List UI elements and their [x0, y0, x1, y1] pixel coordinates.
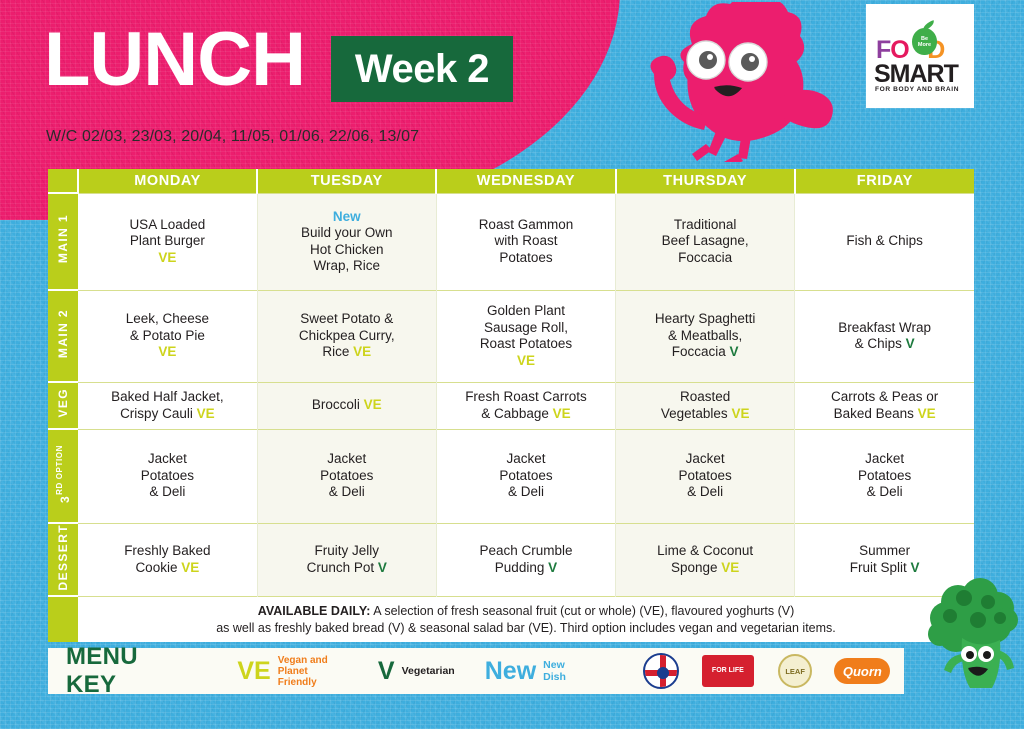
menu-item-line: & Meatballs, [620, 328, 790, 345]
menu-item-line: Crispy Cauli VE [82, 406, 253, 423]
table-row: MAIN 1USA LoadedPlant BurgerVENewBuild y… [48, 193, 974, 290]
menu-cell: Fruity JellyCrunch Pot V [257, 523, 436, 596]
day-header-thursday: THURSDAY [616, 169, 795, 193]
menu-item-line: & Deli [620, 484, 790, 501]
v-symbol: V [378, 657, 395, 686]
menu-item-line: & Cabbage VE [441, 406, 611, 423]
menu-cell: JacketPotatoes& Deli [795, 429, 974, 523]
table-row: MAIN 2Leek, Cheese& Potato PieVESweet Po… [48, 290, 974, 382]
apple-text-more: More [918, 42, 931, 48]
soil-badge-text: FOR LIFE [712, 667, 744, 675]
ve-desc-line1: Vegan and [278, 655, 348, 666]
menu-item-line: Foccacia [620, 250, 790, 267]
leaf-badge-text: LEAF [785, 667, 805, 676]
menu-item-line: Fruit Split V [799, 560, 970, 577]
menu-item-line: Fruity Jelly [262, 543, 432, 560]
diet-tag-v: V [906, 336, 915, 351]
menu-item-line: Plant Burger [82, 233, 253, 250]
ve-description: Vegan and Planet Friendly [278, 655, 348, 688]
menu-table-wrapper: MONDAY TUESDAY WEDNESDAY THURSDAY FRIDAY… [48, 169, 974, 642]
row-label-text: 3RD OPTION [55, 445, 72, 503]
menu-item-line: Baked Beans VE [799, 406, 970, 423]
menu-item-line: Potatoes [441, 250, 611, 267]
menu-item-line: Potatoes [262, 468, 432, 485]
broccoli-mascot-icon [928, 576, 1020, 701]
menu-item-line: & Chips V [799, 336, 970, 353]
menu-cell: JacketPotatoes& Deli [436, 429, 615, 523]
day-header-wednesday: WEDNESDAY [436, 169, 615, 193]
menu-item-line: Fish & Chips [799, 233, 970, 250]
row-label-text: MAIN 1 [56, 214, 70, 263]
page-title: LUNCH [44, 18, 305, 102]
menu-item-line: Foccacia V [620, 344, 790, 361]
menu-item-line: Chickpea Curry, [262, 328, 432, 345]
quorn-badge-text: Quorn [843, 664, 882, 679]
menu-cell: NewBuild your OwnHot ChickenWrap, Rice [257, 193, 436, 290]
row-label-3: 3RD OPTION [48, 429, 78, 523]
menu-item-line: Rice VE [262, 344, 432, 361]
menu-item-line: Hot Chicken [262, 242, 432, 259]
diet-tag-ve: VE [82, 250, 253, 267]
menu-item-line: Jacket [620, 451, 790, 468]
menu-item-line: Fresh Roast Carrots [441, 389, 611, 406]
diet-tag-ve: VE [731, 406, 749, 421]
menu-item-line: Jacket [82, 451, 253, 468]
menu-item-line: Broccoli VE [262, 397, 432, 414]
table-row: 3RD OPTIONJacketPotatoes& DeliJacketPota… [48, 429, 974, 523]
menu-item-line: Beef Lasagne, [620, 233, 790, 250]
row-label-text: DESSERT [56, 524, 70, 590]
menu-item-line: Sweet Potato & [262, 311, 432, 328]
menu-item-line: Jacket [441, 451, 611, 468]
menu-item-line: Potatoes [799, 468, 970, 485]
menu-cell: Fish & Chips [795, 193, 974, 290]
menu-item-line: USA Loaded [82, 217, 253, 234]
menu-cell: Peach CrumblePudding V [436, 523, 615, 596]
menu-key-item-ve: VE Vegan and Planet Friendly [237, 655, 348, 688]
diet-tag-v: V [378, 560, 387, 575]
available-daily-prefix: AVAILABLE DAILY: [258, 604, 371, 618]
week-commencing-dates: W/C 02/03, 23/03, 20/04, 11/05, 01/06, 2… [46, 128, 419, 146]
menu-item-line: Build your Own [262, 225, 432, 242]
day-header-friday: FRIDAY [795, 169, 974, 193]
menu-cell: Roast Gammonwith RoastPotatoes [436, 193, 615, 290]
diet-tag-ve: VE [197, 406, 215, 421]
menu-cell: Carrots & Peas orBaked Beans VE [795, 382, 974, 429]
menu-item-line: Golden Plant [441, 303, 611, 320]
menu-item-line: & Deli [82, 484, 253, 501]
menu-cell: Hearty Spaghetti& Meatballs,Foccacia V [616, 290, 795, 382]
available-daily-line1: AVAILABLE DAILY: A selection of fresh se… [88, 603, 964, 620]
diet-tag-ve: VE [441, 353, 611, 370]
ve-symbol: VE [237, 657, 270, 686]
food-smart-logo: FOOD Be More SMART FOR BODY AND BRAIN [866, 4, 974, 108]
menu-item-line: Vegetables VE [620, 406, 790, 423]
row-label-veg: VEG [48, 382, 78, 429]
accreditation-badges: FOR LIFE LEAF Quorn [619, 648, 904, 694]
menu-item-line: & Potato Pie [82, 328, 253, 345]
menu-cell: Fresh Roast Carrots& Cabbage VE [436, 382, 615, 429]
menu-cell: JacketPotatoes& Deli [616, 429, 795, 523]
diet-tag-ve: VE [721, 560, 739, 575]
diet-tag-ve: VE [181, 560, 199, 575]
menu-item-line: Sponge VE [620, 560, 790, 577]
new-description: New Dish [543, 659, 589, 683]
logo-tagline: FOR BODY AND BRAIN [875, 86, 959, 93]
row-label-main-1: MAIN 1 [48, 193, 78, 290]
menu-item-line: Breakfast Wrap [799, 320, 970, 337]
soil-association-badge-icon: FOR LIFE [700, 653, 756, 689]
quorn-badge-icon: Quorn [834, 653, 890, 689]
menu-cell: Broccoli VE [257, 382, 436, 429]
row-label-text: MAIN 2 [56, 309, 70, 358]
menu-cell: JacketPotatoes& Deli [78, 429, 257, 523]
menu-cell: Freshly BakedCookie VE [78, 523, 257, 596]
available-daily-label-cell [48, 596, 78, 642]
menu-cell: USA LoadedPlant BurgerVE [78, 193, 257, 290]
menu-item-line: Crunch Pot V [262, 560, 432, 577]
row-label-main-2: MAIN 2 [48, 290, 78, 382]
menu-item-line: Leek, Cheese [82, 311, 253, 328]
menu-cell: JacketPotatoes& Deli [257, 429, 436, 523]
menu-key-item-v: V Vegetarian [378, 657, 455, 686]
menu-item-line: Traditional [620, 217, 790, 234]
diet-tag-ve: VE [364, 397, 382, 412]
menu-item-line: Roast Potatoes [441, 336, 611, 353]
menu-cell: Baked Half Jacket,Crispy Cauli VE [78, 382, 257, 429]
menu-item-line: & Deli [441, 484, 611, 501]
red-tractor-badge-icon [633, 653, 689, 689]
diet-tag-v: V [730, 344, 739, 359]
corner-cell [48, 169, 78, 193]
menu-key-title: MENU KEY [66, 643, 193, 699]
menu-cell: Golden PlantSausage Roll,Roast PotatoesV… [436, 290, 615, 382]
diet-tag-v: V [911, 560, 920, 575]
day-header-monday: MONDAY [78, 169, 257, 193]
menu-cell: Breakfast Wrap& Chips V [795, 290, 974, 382]
menu-item-line: & Deli [799, 484, 970, 501]
menu-table: MONDAY TUESDAY WEDNESDAY THURSDAY FRIDAY… [48, 169, 974, 642]
ve-desc-line2: Planet Friendly [278, 666, 348, 688]
menu-item-line: with Roast [441, 233, 611, 250]
diet-tag-ve: VE [82, 344, 253, 361]
new-dish-badge: New [262, 209, 432, 226]
menu-item-line: Summer [799, 543, 970, 560]
menu-cell: Lime & CoconutSponge VE [616, 523, 795, 596]
available-daily-line2: as well as freshly baked bread (V) & sea… [88, 620, 964, 637]
menu-cell: RoastedVegetables VE [616, 382, 795, 429]
apple-icon: Be More [912, 28, 937, 55]
row-label-dessert: DESSERT [48, 523, 78, 596]
leaf-marque-badge-icon: LEAF [767, 653, 823, 689]
menu-item-line: Baked Half Jacket, [82, 389, 253, 406]
diet-tag-v: V [548, 560, 557, 575]
menu-item-line: Lime & Coconut [620, 543, 790, 560]
v-description: Vegetarian [402, 665, 455, 677]
week-badge: Week 2 [331, 36, 513, 102]
menu-item-line: Pudding V [441, 560, 611, 577]
new-symbol: New [485, 657, 536, 686]
menu-item-line: Jacket [262, 451, 432, 468]
menu-table-body: MAIN 1USA LoadedPlant BurgerVENewBuild y… [48, 193, 974, 642]
available-daily-text: AVAILABLE DAILY: A selection of fresh se… [78, 596, 974, 642]
menu-cell: Leek, Cheese& Potato PieVE [78, 290, 257, 382]
menu-item-line: Peach Crumble [441, 543, 611, 560]
table-row: VEGBaked Half Jacket,Crispy Cauli VEBroc… [48, 382, 974, 429]
diet-tag-ve: VE [553, 406, 571, 421]
menu-item-line: Jacket [799, 451, 970, 468]
menu-cell: TraditionalBeef Lasagne,Foccacia [616, 193, 795, 290]
menu-key-item-new: New New Dish [485, 657, 589, 686]
menu-item-line: Roast Gammon [441, 217, 611, 234]
menu-item-line: Cookie VE [82, 560, 253, 577]
available-daily-row: AVAILABLE DAILY: A selection of fresh se… [48, 596, 974, 642]
lunch-menu-poster: LUNCH Week 2 W/C 02/03, 23/03, 20/04, 11… [0, 0, 1024, 729]
menu-cell: Sweet Potato &Chickpea Curry,Rice VE [257, 290, 436, 382]
table-header-row: MONDAY TUESDAY WEDNESDAY THURSDAY FRIDAY [48, 169, 974, 193]
menu-item-line: & Deli [262, 484, 432, 501]
menu-item-line: Potatoes [82, 468, 253, 485]
menu-item-line: Potatoes [441, 468, 611, 485]
diet-tag-ve: VE [918, 406, 936, 421]
menu-item-line: Freshly Baked [82, 543, 253, 560]
day-header-tuesday: TUESDAY [257, 169, 436, 193]
menu-item-line: Wrap, Rice [262, 258, 432, 275]
menu-item-line: Potatoes [620, 468, 790, 485]
menu-item-line: Sausage Roll, [441, 320, 611, 337]
menu-item-line: Carrots & Peas or [799, 389, 970, 406]
diet-tag-ve: VE [353, 344, 371, 359]
menu-key-bar: MENU KEY VE Vegan and Planet Friendly V … [48, 648, 619, 694]
table-row: DESSERTFreshly BakedCookie VEFruity Jell… [48, 523, 974, 596]
logo-smart-text: SMART [874, 62, 958, 87]
menu-item-line: Roasted [620, 389, 790, 406]
row-label-text: VEG [56, 388, 70, 418]
menu-item-line: Hearty Spaghetti [620, 311, 790, 328]
